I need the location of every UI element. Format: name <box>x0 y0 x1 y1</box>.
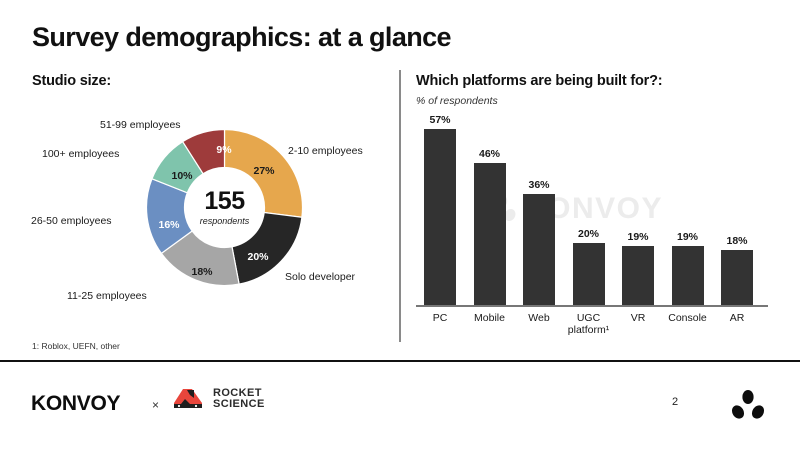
bar-value-label: 57% <box>429 114 450 126</box>
donut-slice-percent: 20% <box>247 251 268 263</box>
bar-category-label: Web <box>528 312 549 324</box>
slide-canvas: Survey demographics: at a glance Studio … <box>0 0 800 450</box>
bar <box>523 194 555 305</box>
bar-category-line: Console <box>668 312 707 324</box>
donut-category-label: 100+ employees <box>42 148 119 160</box>
logo-separator: × <box>152 398 159 412</box>
bar-value-label: 18% <box>726 235 747 247</box>
rocket-science-icon <box>170 386 206 412</box>
bar <box>474 163 506 305</box>
rocket-science-wordmark: ROCKET SCIENCE <box>213 388 265 411</box>
bar <box>622 246 654 305</box>
page-title: Survey demographics: at a glance <box>32 22 451 53</box>
donut-category-label: 11-25 employees <box>67 290 147 302</box>
konvoy-wordmark: KONVOY <box>31 392 120 416</box>
donut-slice-percent: 16% <box>158 219 179 231</box>
bar <box>424 129 456 305</box>
bar-category-line: Web <box>528 312 549 324</box>
bar-value-label: 19% <box>627 231 648 243</box>
footer-divider <box>0 360 800 362</box>
konvoy-trefoil-icon <box>730 389 766 421</box>
bar-category-line: platform¹ <box>568 324 609 336</box>
bar <box>721 250 753 306</box>
platforms-heading: Which platforms are being built for?: <box>416 73 662 89</box>
donut-category-label: Solo developer <box>285 271 355 283</box>
platforms-subtitle: % of respondents <box>416 95 498 107</box>
bar-category-line: AR <box>730 312 745 324</box>
bar-category-label: AR <box>730 312 745 324</box>
bar-category-line: PC <box>433 312 448 324</box>
donut-slice-percent: 18% <box>191 266 212 278</box>
page-number: 2 <box>672 396 678 408</box>
bar-value-label: 20% <box>578 228 599 240</box>
platforms-bar-chart: 57%46%36%20%19%19%18% <box>416 120 776 305</box>
donut-category-label: 2-10 employees <box>288 145 363 157</box>
bar-category-label: PC <box>433 312 448 324</box>
bar-value-label: 46% <box>479 148 500 160</box>
bar-value-label: 19% <box>677 231 698 243</box>
bar-category-line: VR <box>631 312 646 324</box>
studio-size-heading: Studio size: <box>32 73 111 89</box>
konvoy-logo-mark <box>730 389 766 426</box>
donut-slice-percent: 10% <box>171 170 192 182</box>
donut-slice-percent: 27% <box>253 165 274 177</box>
bar-category-label: Mobile <box>474 312 505 324</box>
bar-category-label: VR <box>631 312 646 324</box>
donut-category-label: 51-99 employees <box>100 119 181 131</box>
bar-chart-axis <box>416 305 768 307</box>
rocket-science-line2: SCIENCE <box>213 399 265 411</box>
rocket-science-logo: ROCKET SCIENCE <box>170 386 265 412</box>
bar-value-label: 36% <box>528 179 549 191</box>
bar-category-line: Mobile <box>474 312 505 324</box>
bar <box>672 246 704 305</box>
donut-slice-percent: 9% <box>216 144 231 156</box>
bar-category-label: UGCplatform¹ <box>568 312 609 336</box>
bar <box>573 243 605 305</box>
vertical-divider <box>399 70 401 342</box>
donut-category-label: 26-50 employees <box>31 215 112 227</box>
bar-category-line: UGC <box>568 312 609 324</box>
bar-category-label: Console <box>668 312 707 324</box>
footnote: 1: Roblox, UEFN, other <box>32 341 120 351</box>
